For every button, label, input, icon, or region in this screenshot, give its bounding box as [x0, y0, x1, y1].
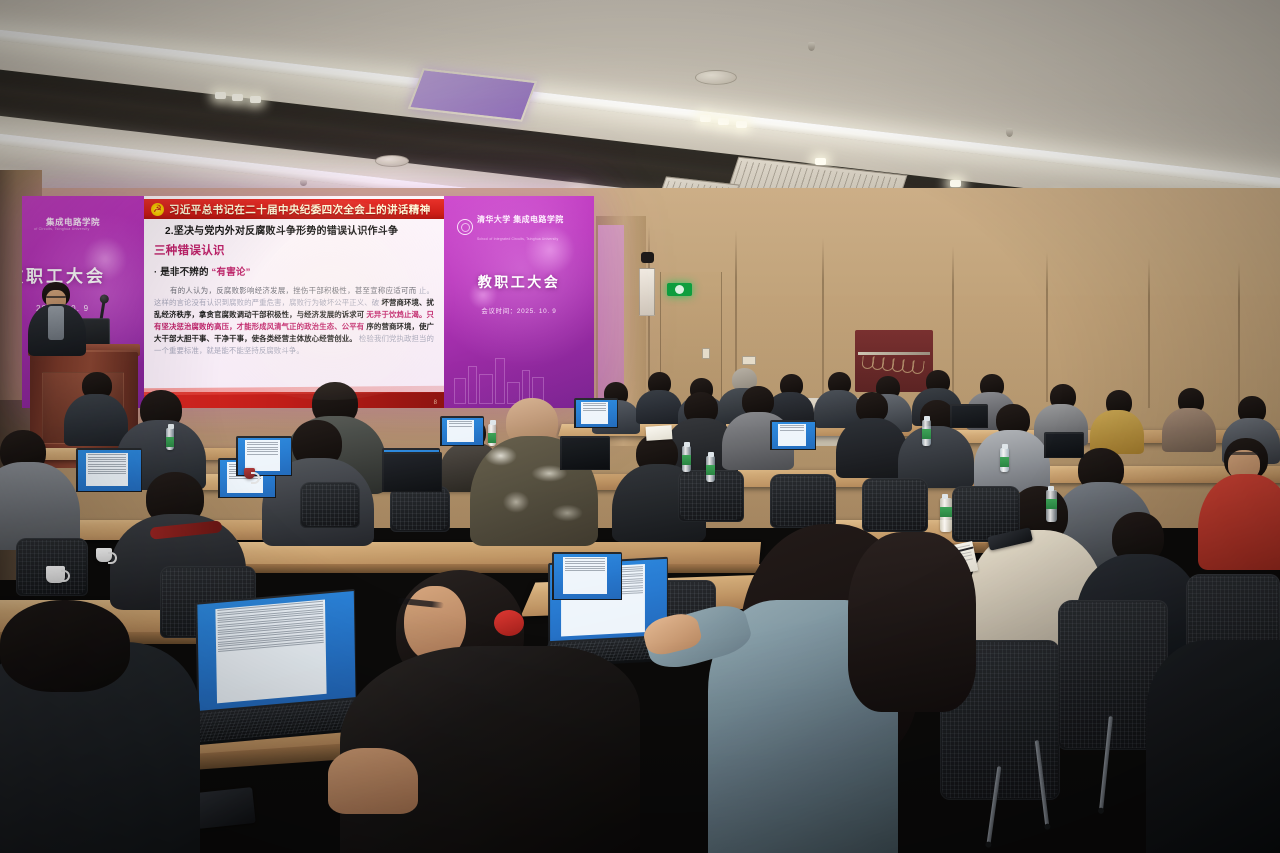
- attendee-body: [1162, 408, 1216, 452]
- skyline-graphic: [452, 342, 547, 404]
- chair: [390, 486, 450, 532]
- chair: [862, 478, 928, 532]
- desk-edge-center: [200, 564, 761, 573]
- title-slide-title: 教职工大会: [444, 272, 594, 292]
- water-bottle: [488, 424, 496, 446]
- ceiling-camera: [641, 252, 654, 263]
- left-panel-logo-en: of Circuits, Tsinghua University: [34, 227, 89, 231]
- slide-para-1: 有的人认为，反腐败影响经济发展，挫伤干部积极性，甚至宣称应适可而: [170, 286, 416, 295]
- tsinghua-seal-icon: [457, 219, 473, 235]
- smartphone[interactable]: [194, 787, 255, 829]
- conference-room-photo: 集成电路学院 of Circuits, Tsinghua University …: [0, 0, 1280, 853]
- attendee-red-jacket: [1198, 474, 1280, 570]
- water-bottle: [1000, 448, 1009, 472]
- water-bottle: [682, 446, 691, 472]
- title-slide-date-label: 会议时间：: [481, 308, 516, 315]
- foreground-hand: [328, 748, 418, 814]
- title-slide-logo-en: School of Integrated Circuits, Tsinghua …: [477, 237, 558, 241]
- attendee-body: [974, 430, 1050, 492]
- red-mug: [244, 468, 255, 479]
- screen-panel-title-slide: 清华大学 集成电路学院 School of Integrated Circuit…: [444, 196, 594, 408]
- red-hair-tie: [494, 610, 524, 636]
- wall-switch[interactable]: [702, 348, 710, 359]
- title-slide-date-value: 2025. 10. 9: [517, 308, 557, 315]
- sprinkler-head: [1006, 128, 1013, 137]
- title-slide-logo-cn: 清华大学 集成电路学院: [477, 215, 564, 224]
- slide-body: 2.坚决与党内外对反腐败斗争形势的错误认识作斗争 三种错误认识 · 是非不辨的 …: [144, 222, 444, 357]
- slide-paragraph: 有的人认为，反腐败影响经济发展，挫伤干部积极性，甚至宣称应适可而 止。这样的言论…: [154, 285, 434, 357]
- slide-line-1: 2.坚决与党内外对反腐败斗争形势的错误认识作斗争: [165, 222, 434, 237]
- wall-speaker: [639, 268, 655, 316]
- title-slide-date: 会议时间：2025. 10. 9: [444, 306, 594, 315]
- chair: [770, 474, 836, 528]
- water-bottle: [1046, 490, 1057, 522]
- attendee-body: [64, 394, 128, 446]
- foreground-hair-back: [848, 532, 976, 712]
- slide-line-2: 三种错误认识: [154, 242, 434, 258]
- slide-footer-band: 8: [144, 392, 444, 408]
- coffee-mug: [46, 566, 65, 583]
- water-bottle: [706, 456, 715, 482]
- ceiling-speaker: [695, 70, 737, 85]
- presenter-glasses: [46, 296, 66, 298]
- wall-socket: [742, 356, 756, 365]
- slide-bullet-text: · 是非不辨的: [154, 267, 209, 278]
- presenter-shirt: [48, 306, 64, 340]
- attendee-glasses: [1228, 452, 1258, 455]
- slide-header-banner: 习近平总书记在二十届中央纪委四次全会上的讲话精神: [144, 199, 444, 219]
- party-emblem-icon: [151, 203, 164, 216]
- sprinkler-head: [300, 180, 307, 186]
- slide-bullet-quote: “有害论”: [212, 267, 251, 278]
- attendee-body: [636, 390, 682, 424]
- paper-sheet: [646, 425, 673, 441]
- coat-rail: [858, 352, 930, 355]
- water-bottle: [166, 428, 174, 450]
- foreground-person-right: [1146, 640, 1280, 853]
- sprinkler-head: [808, 42, 815, 51]
- slide-bullet: · 是非不辨的 “有害论”: [154, 264, 434, 278]
- slide-page-number: 8: [434, 400, 437, 406]
- screen-panel-main-slide: 习近平总书记在二十届中央纪委四次全会上的讲话精神 2.坚决与党内外对反腐败斗争形…: [144, 196, 444, 408]
- chair: [300, 482, 360, 528]
- foreground-head-left: [0, 600, 130, 692]
- ceiling-speaker: [375, 155, 409, 167]
- exit-sign: [667, 283, 692, 296]
- coffee-mug: [96, 548, 112, 562]
- water-bottle: [940, 498, 952, 532]
- projector-panel: [408, 68, 537, 122]
- slide-header-text: 习近平总书记在二十届中央纪委四次全会上的讲话精神: [169, 202, 431, 217]
- title-slide-logo: 清华大学 集成电路学院 School of Integrated Circuit…: [457, 209, 564, 245]
- water-bottle: [922, 420, 931, 446]
